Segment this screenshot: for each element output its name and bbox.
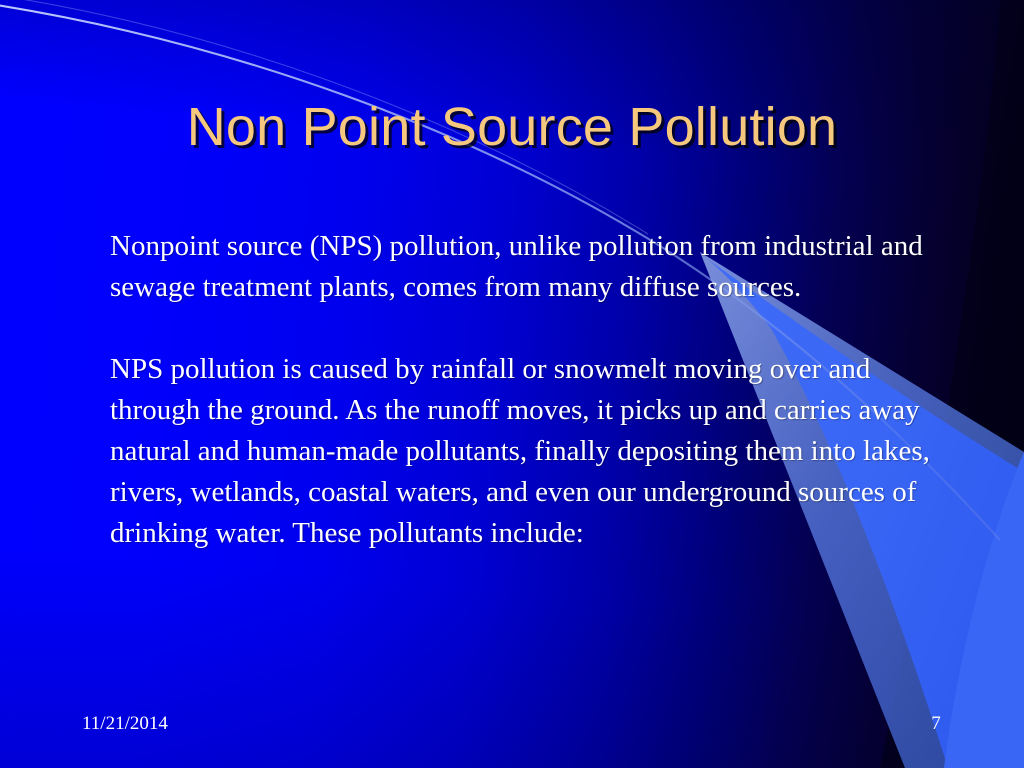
footer-page-number: 7 [922, 712, 950, 736]
footer-date: 11/21/2014 [82, 712, 168, 736]
body-paragraph-1: Nonpoint source (NPS) pollution, unlike … [110, 226, 940, 308]
slide-title: Non Point Source Pollution [0, 96, 1024, 158]
slide-body: Nonpoint source (NPS) pollution, unlike … [110, 226, 940, 554]
body-paragraph-2: NPS pollution is caused by rainfall or s… [110, 349, 940, 554]
presentation-slide: Non Point Source Pollution Nonpoint sour… [0, 0, 1024, 768]
